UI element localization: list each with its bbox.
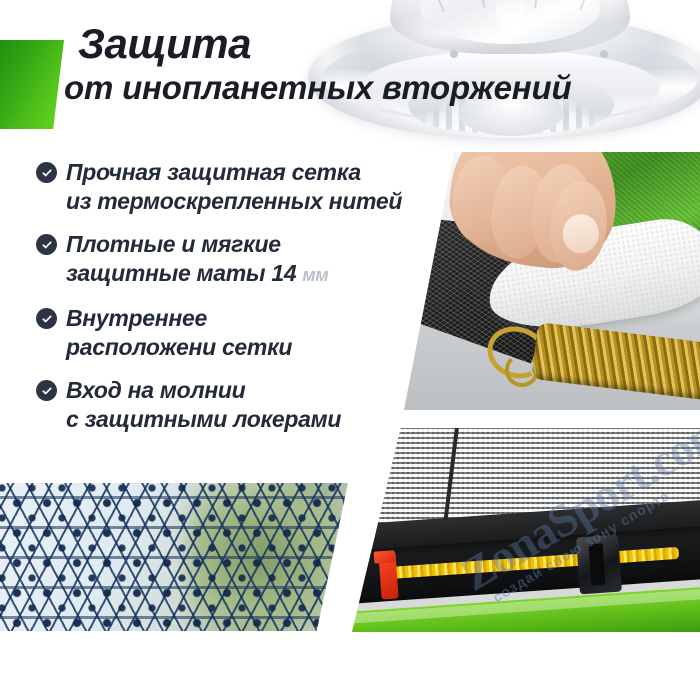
feature-line-2: защитные маты 14 [66,260,296,286]
check-circle-icon [36,308,57,329]
feature-line-1: Внутреннее [66,305,207,331]
title-line-1: Защита [78,22,678,66]
check-circle-icon [36,162,57,183]
page-title: Защита от инопланетных вторжений [78,22,678,108]
list-item: Плотные и мягкие защитные маты 14 мм [36,230,436,290]
feature-unit: мм [302,265,328,285]
check-circle-icon [36,380,57,401]
feature-line-1: Вход на молнии [66,377,245,403]
feature-line-2: из термоскрепленных нитей [66,188,402,214]
photo-zipper [352,428,700,632]
feature-line-1: Плотные и мягкие [66,231,281,257]
promo-banner: Защита от инопланетных вторжений Прочная… [0,0,700,700]
photo-blue-net [0,483,348,631]
photo-pad-foam-spring [404,152,700,410]
check-circle-icon [36,234,57,255]
list-item: Внутреннее расположени сетки [36,304,436,362]
feature-line-2: расположени сетки [66,334,292,360]
title-line-2: от инопланетных вторжений [64,68,678,108]
list-item: Прочная защитная сетка из термоскрепленн… [36,158,436,216]
feature-list: Прочная защитная сетка из термоскрепленн… [36,158,436,448]
feature-line-2: с защитными локерами [66,406,341,432]
feature-line-1: Прочная защитная сетка [66,159,361,185]
green-accent-badge [0,40,64,129]
list-item: Вход на молнии с защитными локерами [36,376,436,434]
